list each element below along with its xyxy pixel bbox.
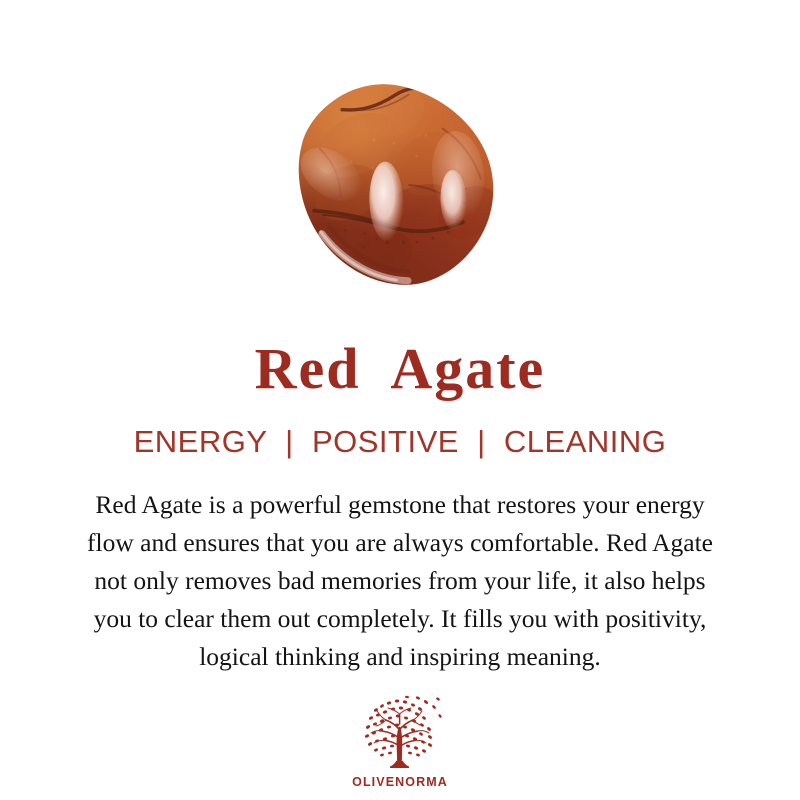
product-description: Red Agate is a powerful gemstone that re… — [20, 486, 780, 676]
product-info-card: Red Agate ENERGY | POSITIVE | CLEANING R… — [0, 0, 800, 800]
brand-name: OLIVENORMA — [352, 775, 448, 789]
page-title: Red Agate — [255, 340, 546, 398]
tree-of-life-icon — [352, 694, 448, 774]
description-line: flow and ensures that you are always com… — [20, 524, 780, 562]
description-line: not only removes bad memories from your … — [20, 562, 780, 600]
brand-logo: OLIVENORMA — [340, 694, 460, 789]
red-agate-stone-image — [287, 72, 509, 294]
gemstone-image-area — [0, 0, 800, 320]
description-line: logical thinking and inspiring meaning. — [20, 638, 780, 676]
red-agate-stone-graphic — [287, 72, 509, 294]
description-line: Red Agate is a powerful gemstone that re… — [20, 486, 780, 524]
description-line: you to clear them out completely. It fil… — [20, 600, 780, 638]
product-attributes: ENERGY | POSITIVE | CLEANING — [134, 424, 667, 460]
